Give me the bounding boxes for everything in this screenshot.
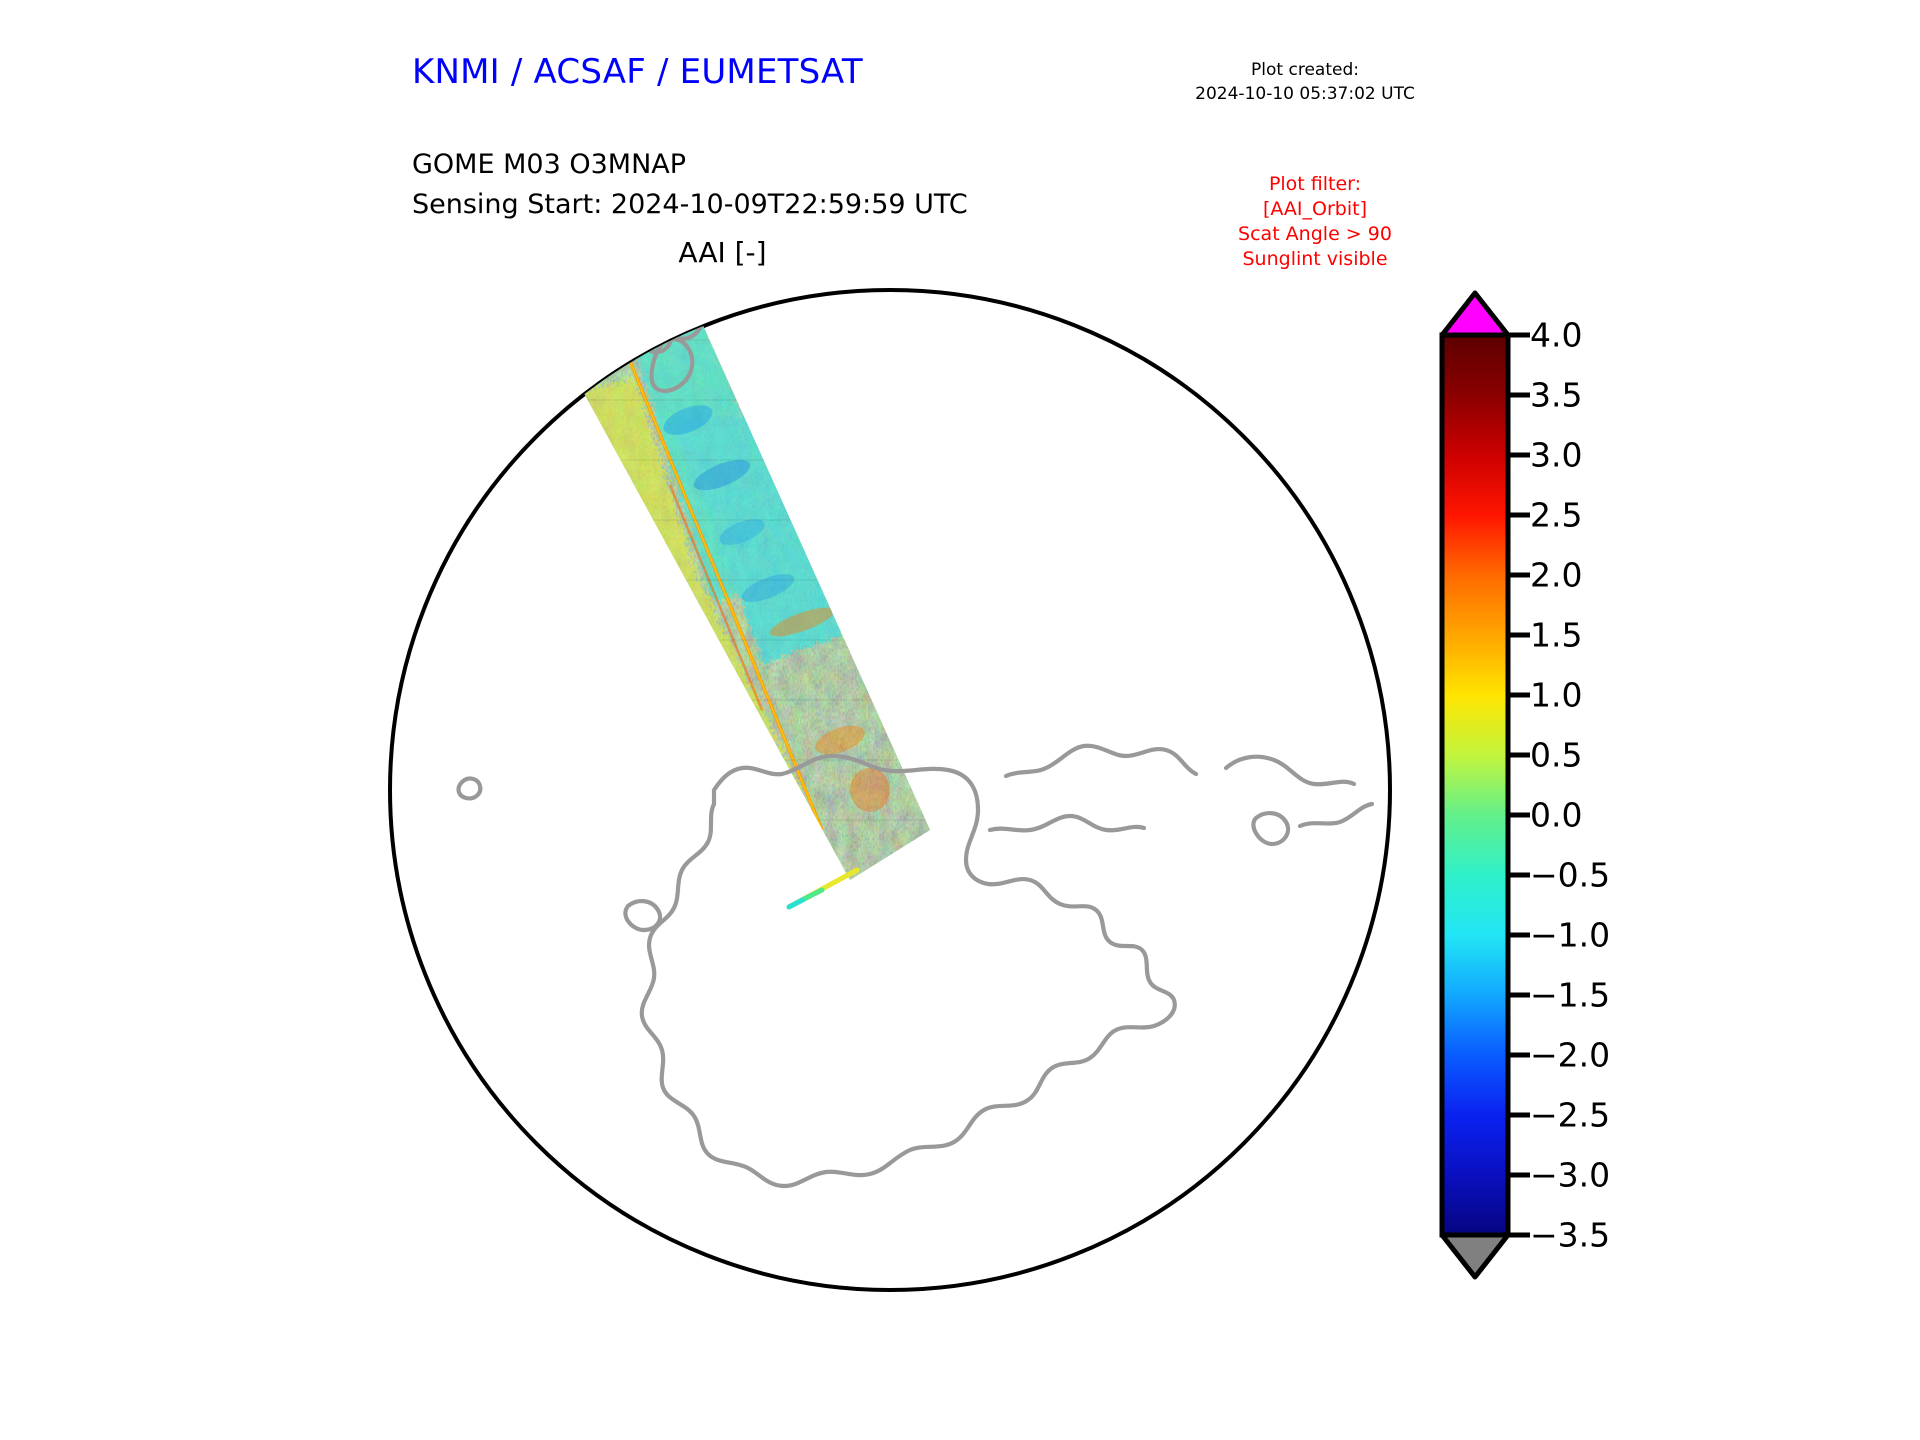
colorbar-tick-label-1: 3.5 [1530, 376, 1582, 415]
plot-filter-sunglint: Sunglint visible [1185, 247, 1445, 272]
plot-created-block: Plot created: 2024-10-10 05:37:02 UTC [1160, 58, 1450, 106]
colorbar-tick-label-7: 0.5 [1530, 736, 1582, 775]
plot-created-label: Plot created: [1160, 58, 1450, 82]
plot-filter-label: Plot filter: [1185, 172, 1445, 197]
colorbar-tick-label-12: −2.0 [1530, 1036, 1610, 1075]
polar-map-svg [370, 270, 1410, 1310]
plot-created-value: 2024-10-10 05:37:02 UTC [1160, 82, 1450, 106]
colorbar-tick-label-10: −1.0 [1530, 916, 1610, 955]
colorbar-tick-label-3: 2.5 [1530, 496, 1582, 535]
map-plot-area [370, 270, 1410, 1310]
colorbar-tick-label-0: 4.0 [1530, 316, 1582, 355]
colorbar-tick-label-8: 0.0 [1530, 796, 1582, 835]
colorbar-tick-label-4: 2.0 [1530, 556, 1582, 595]
colorbar-tick-marks [1508, 335, 1530, 1235]
colorbar-tick-label-13: −2.5 [1530, 1096, 1610, 1135]
plot-filter-scat-angle: Scat Angle > 90 [1185, 222, 1445, 247]
colorbar-over-range-arrow [1442, 293, 1508, 335]
plot-filter-name: [AAI_Orbit] [1185, 197, 1445, 222]
colorbar-tick-label-15: −3.5 [1530, 1216, 1610, 1255]
organisation-title: KNMI / ACSAF / EUMETSAT [412, 52, 863, 92]
instrument-line: GOME M03 O3MNAP [412, 145, 968, 185]
sensing-start-line: Sensing Start: 2024-10-09T22:59:59 UTC [412, 185, 968, 225]
colorbar-under-range-arrow [1442, 1235, 1508, 1277]
colorbar: 4.0 3.5 3.0 2.5 2.0 1.5 1.0 0.5 0.0 −0.5… [1432, 285, 1762, 1295]
colorbar-tick-label-14: −3.0 [1530, 1156, 1610, 1195]
colorbar-tick-label-2: 3.0 [1530, 436, 1582, 475]
colorbar-tick-label-9: −0.5 [1530, 856, 1610, 895]
dataset-info-block: GOME M03 O3MNAP Sensing Start: 2024-10-0… [412, 145, 968, 225]
plot-filter-block: Plot filter: [AAI_Orbit] Scat Angle > 90… [1185, 172, 1445, 272]
colorbar-gradient-body [1442, 335, 1508, 1235]
colorbar-tick-label-6: 1.0 [1530, 676, 1582, 715]
colorbar-tick-label-5: 1.5 [1530, 616, 1582, 655]
colorbar-tick-label-11: −1.5 [1530, 976, 1610, 1015]
